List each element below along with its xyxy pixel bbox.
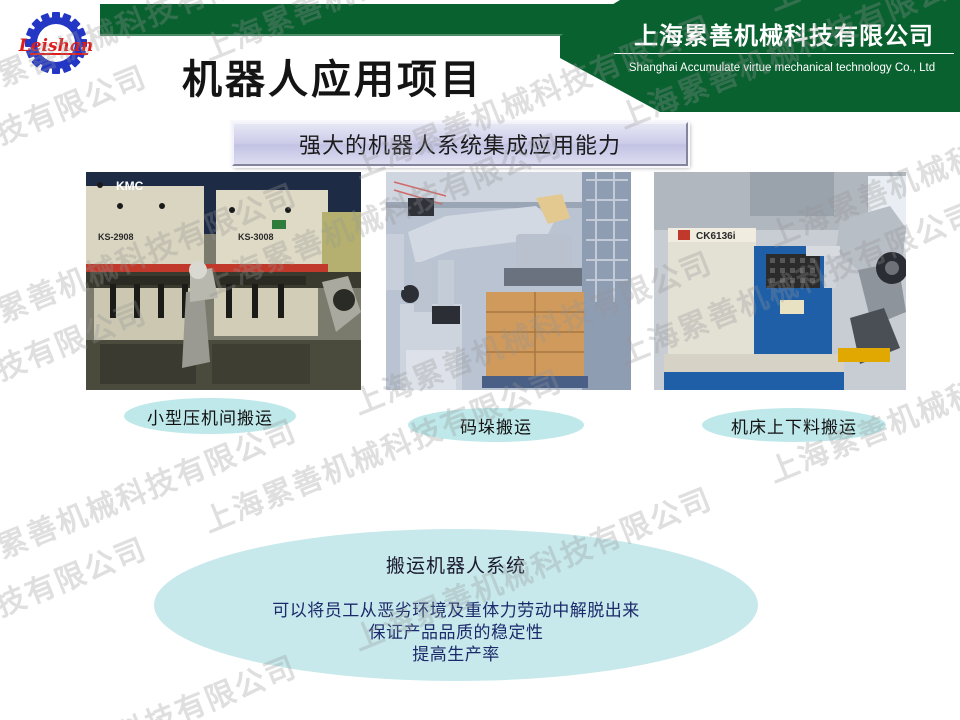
palletizing-photo <box>386 172 631 390</box>
caption-small-press-transfer: 小型压机间搬运 <box>124 398 296 434</box>
summary-title: 搬运机器人系统 <box>386 551 526 578</box>
summary-line-3: 提高生产率 <box>412 644 500 666</box>
photo3-label-ck6136i: CK6136i <box>696 231 736 242</box>
photo1-label-kmc: KMC <box>116 179 144 193</box>
cnc-loading-photo: CK6136i <box>654 172 906 390</box>
page-title: 机器人应用项目 <box>182 56 483 104</box>
small-press-transfer-photo: KMC KS-2908 KS-3008 <box>86 172 361 390</box>
header-green-block <box>560 0 960 112</box>
summary-line-1: 可以将员工从恶劣环境及重体力劳动中解脱出来 <box>272 600 640 622</box>
caption-cnc-loading: 机床上下料搬运 <box>702 408 886 442</box>
caption-label: 码垛搬运 <box>460 413 532 438</box>
caption-label: 小型压机间搬运 <box>147 404 273 429</box>
summary-line-2: 保证产品品质的稳定性 <box>369 622 544 644</box>
caption-palletizing: 码垛搬运 <box>408 408 584 442</box>
caption-label: 机床上下料搬运 <box>731 413 857 438</box>
photo1-label-ks3008: KS-3008 <box>238 232 274 242</box>
gear-icon: Leishan <box>12 12 100 74</box>
subtitle-banner: 强大的机器人系统集成应用能力 <box>232 122 688 166</box>
subtitle-banner-label: 强大的机器人系统集成应用能力 <box>299 128 621 160</box>
photo1-label-ks2908: KS-2908 <box>98 232 134 242</box>
company-name-chinese: 上海累善机械科技有限公司 <box>614 21 954 54</box>
company-logo: Leishan <box>12 12 100 74</box>
company-name-english: Shanghai Accumulate virtue mechanical te… <box>606 62 958 74</box>
summary-ellipse: 搬运机器人系统 可以将员工从恶劣环境及重体力劳动中解脱出来 保证产品品质的稳定性… <box>154 529 758 681</box>
